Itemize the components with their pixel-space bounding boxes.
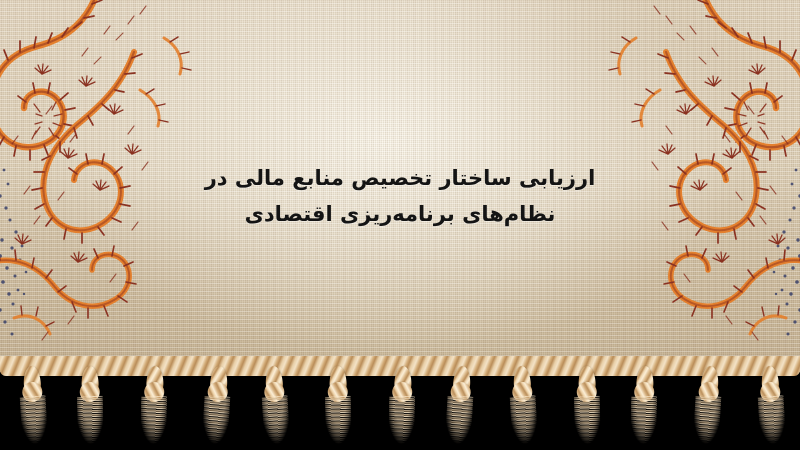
slide-canvas: ارزیابی ساختار تخصیص منابع مالی در نظام‌… — [0, 0, 800, 450]
tassel-knot-lower — [328, 382, 348, 402]
tassel-knot-lower — [392, 382, 412, 402]
slide-title: ارزیابی ساختار تخصیص منابع مالی در نظام‌… — [0, 160, 800, 232]
tassel-knot-lower — [450, 381, 471, 402]
tassel-tuft — [692, 395, 721, 444]
tassel-tuft — [510, 395, 539, 444]
tassel-knot-lower — [80, 382, 100, 402]
title-line-2: نظام‌های برنامه‌ریزی اقتصادی — [0, 196, 800, 232]
tassel-knot-lower — [760, 381, 781, 402]
tassel-knot-lower — [512, 381, 533, 402]
tassel-tuft — [630, 396, 657, 444]
tassel-knot-lower — [22, 381, 43, 402]
braided-edge — [0, 356, 800, 376]
tassel-tuft — [19, 395, 48, 444]
fabric-panel: ارزیابی ساختار تخصیص منابع مالی در نظام‌… — [0, 0, 800, 372]
tassel-knot-lower — [264, 381, 285, 402]
tassel-tuft — [77, 396, 104, 444]
tassel-knot-lower — [144, 382, 164, 402]
tassel-tuft — [261, 395, 290, 444]
tassel-tuft — [325, 396, 352, 444]
tassel-knot-lower — [208, 381, 229, 402]
title-line-1: ارزیابی ساختار تخصیص منابع مالی در — [0, 160, 800, 196]
tassel-knot-lower — [576, 382, 596, 402]
tassel-knot-lower — [698, 381, 719, 402]
paisley-corner-left — [0, 0, 242, 354]
tassel-tuft — [388, 396, 415, 444]
tassel-tuft — [202, 395, 231, 444]
tassel-tuft — [758, 395, 787, 444]
weave-highlight-overlay — [0, 0, 800, 372]
weave-texture-overlay — [0, 0, 800, 372]
tassel-tuft — [444, 395, 473, 444]
tassel-tuft — [140, 396, 167, 444]
tassel-tuft — [573, 396, 600, 444]
paisley-corner-right — [558, 0, 800, 354]
tassel-knot-lower — [634, 382, 654, 402]
